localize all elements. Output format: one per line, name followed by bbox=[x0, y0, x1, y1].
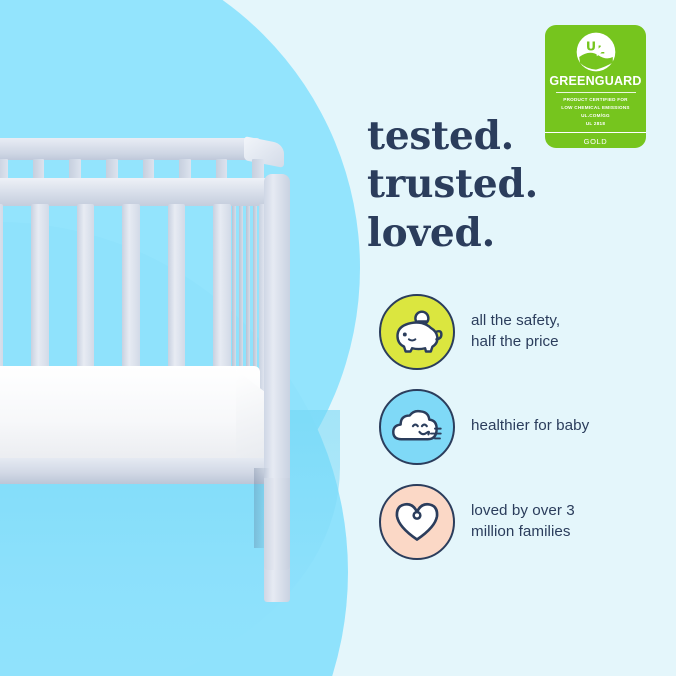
crib-base-rail bbox=[0, 458, 282, 484]
piggy-bank-icon bbox=[391, 310, 443, 354]
benefits-list: all the safety, half the price healthier… bbox=[379, 293, 629, 578]
benefit-icon-badge bbox=[379, 294, 455, 370]
benefit-label: all the safety, half the price bbox=[471, 311, 560, 352]
benefit-item-safety: all the safety, half the price bbox=[379, 293, 629, 370]
marketing-image: U L GREENGUARD PRODUCT CERTIFIED FOR LOW… bbox=[0, 0, 676, 676]
headline-line-1: tested. bbox=[367, 112, 538, 160]
headline-line-3: loved. bbox=[367, 209, 538, 257]
heart-icon bbox=[392, 499, 442, 545]
page-title: tested. trusted. loved. bbox=[367, 112, 538, 257]
badge-divider bbox=[556, 92, 636, 93]
crib-mattress bbox=[0, 366, 260, 466]
badge-line-1: PRODUCT CERTIFIED FOR bbox=[561, 96, 629, 104]
badge-line-4: UL 2818 bbox=[561, 120, 629, 128]
badge-title: GREENGUARD bbox=[549, 74, 641, 88]
benefit-label: loved by over 3 million families bbox=[471, 501, 575, 542]
convertible-crib bbox=[0, 138, 312, 578]
crib-leg bbox=[264, 478, 290, 570]
cloud-blowing-icon bbox=[390, 406, 444, 448]
benefit-item-loved: loved by over 3 million families bbox=[379, 483, 629, 560]
crib-back-rail bbox=[0, 138, 260, 160]
headline-line-2: trusted. bbox=[367, 160, 538, 208]
badge-line-2: LOW CHEMICAL EMISSIONS bbox=[561, 104, 629, 112]
benefit-icon-badge bbox=[379, 484, 455, 560]
ul-leaf-icon: U L bbox=[575, 31, 617, 73]
benefit-label: healthier for baby bbox=[471, 416, 589, 437]
badge-certification-details: PRODUCT CERTIFIED FOR LOW CHEMICAL EMISS… bbox=[561, 96, 629, 128]
benefit-icon-badge bbox=[379, 389, 455, 465]
badge-line-3: UL.COM/GG bbox=[561, 112, 629, 120]
crib-top-rail bbox=[0, 178, 288, 206]
badge-gold-divider bbox=[545, 132, 646, 133]
badge-level: GOLD bbox=[584, 137, 608, 146]
greenguard-certification-badge: U L GREENGUARD PRODUCT CERTIFIED FOR LOW… bbox=[545, 25, 646, 148]
benefit-item-health: healthier for baby bbox=[379, 388, 629, 465]
svg-text:U: U bbox=[585, 38, 595, 53]
